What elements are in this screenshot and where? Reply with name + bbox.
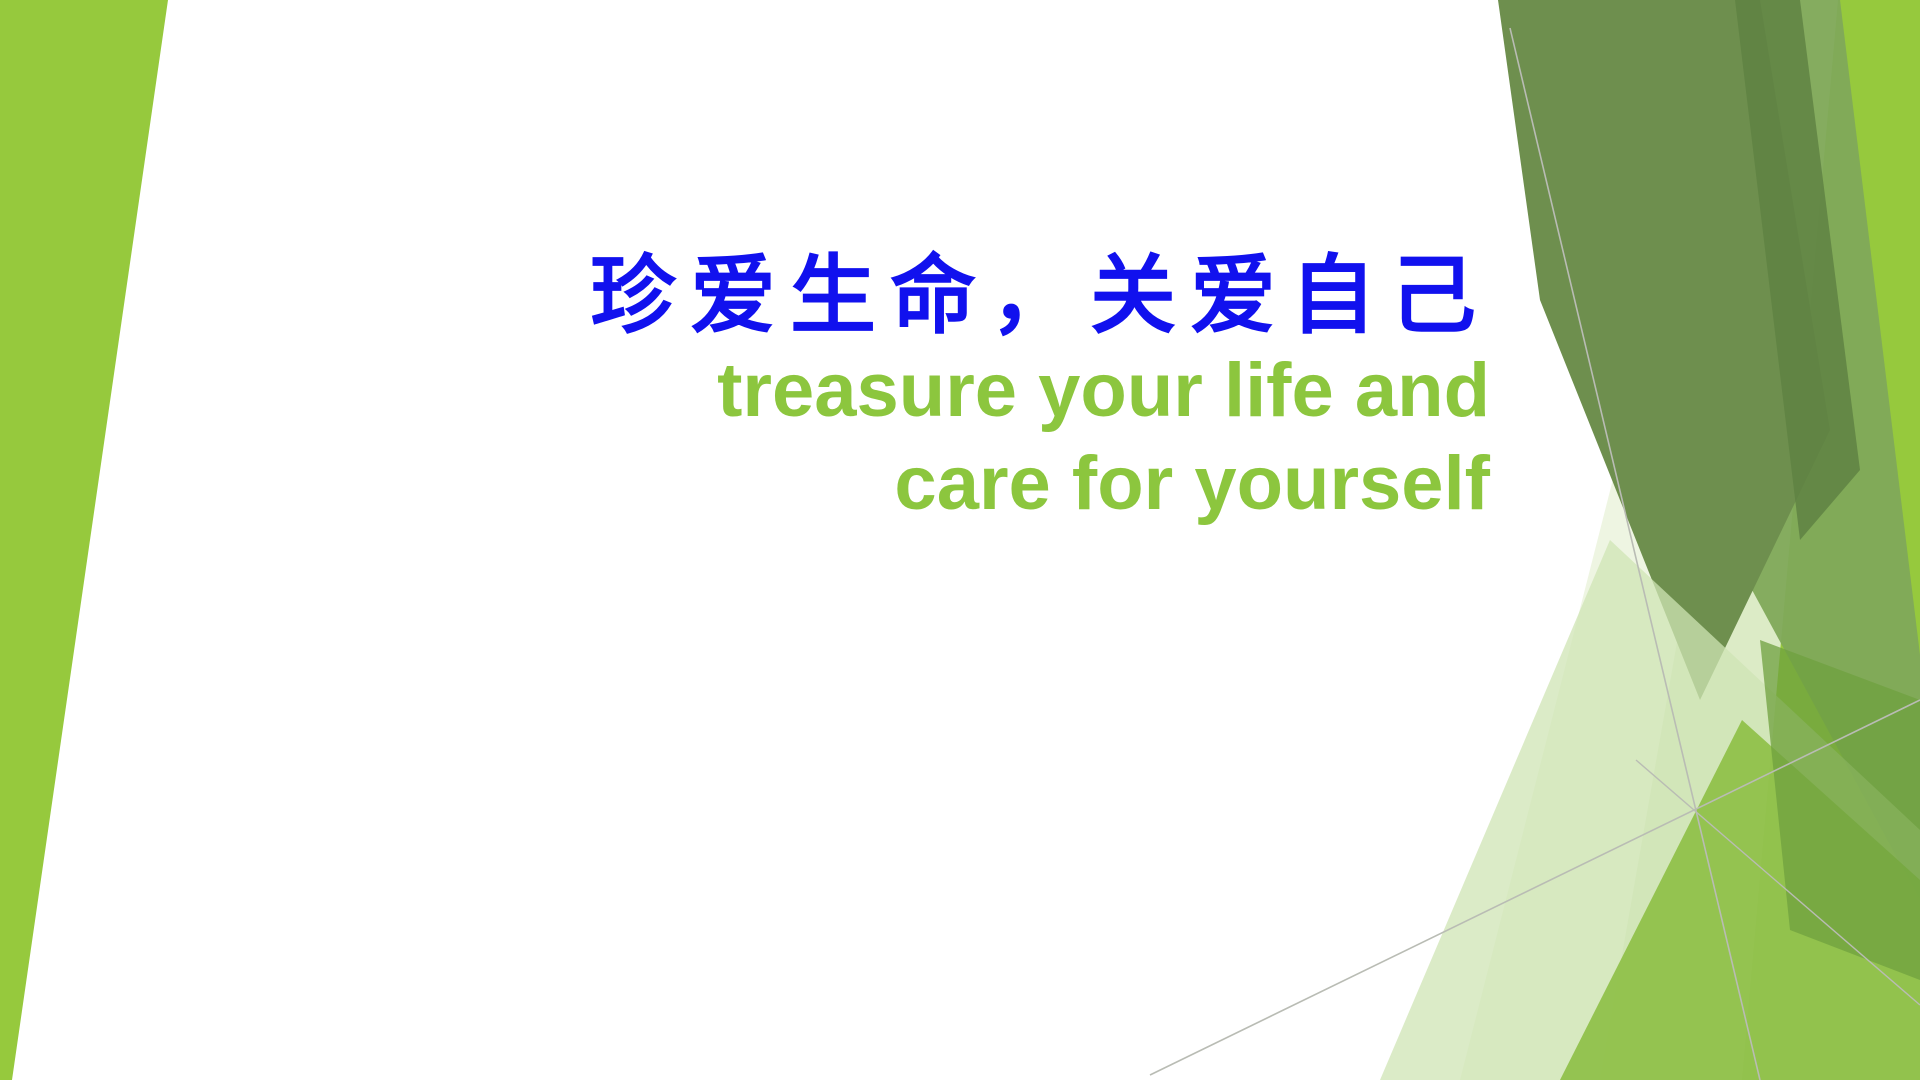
right-pale-green-panel xyxy=(1600,0,1920,1080)
right-mid-green-panel xyxy=(1660,0,1920,900)
right-bright-green-panel xyxy=(1742,0,1920,1080)
slide-text-block: 珍爱生命，关爱自己 treasure your life and care fo… xyxy=(420,250,1490,530)
subtitle-line-1: treasure your life and xyxy=(420,345,1490,438)
diagonal-hairline-upper xyxy=(1510,28,1760,1080)
slide-subtitle-english: treasure your life and care for yourself xyxy=(420,343,1490,530)
right-dark-green-panel xyxy=(1498,0,1830,700)
right-light-green-triangle xyxy=(1380,540,1920,1080)
diagonal-hairline-short xyxy=(1636,760,1920,1005)
diagonal-hairline-lower xyxy=(1150,700,1920,1075)
subtitle-line-2: care for yourself xyxy=(420,438,1490,531)
presentation-slide: 珍爱生命，关爱自己 treasure your life and care fo… xyxy=(0,0,1920,1080)
right-very-pale-green-panel xyxy=(1460,0,1920,1080)
left-green-wedge xyxy=(0,0,168,1080)
right-dark-green-sliver xyxy=(1735,0,1860,540)
bottom-right-deep-green-shard xyxy=(1760,640,1920,980)
slide-title-chinese: 珍爱生命，关爱自己 xyxy=(420,250,1490,343)
slide-decoration xyxy=(0,0,1920,1080)
bottom-right-green-shard xyxy=(1560,720,1920,1080)
